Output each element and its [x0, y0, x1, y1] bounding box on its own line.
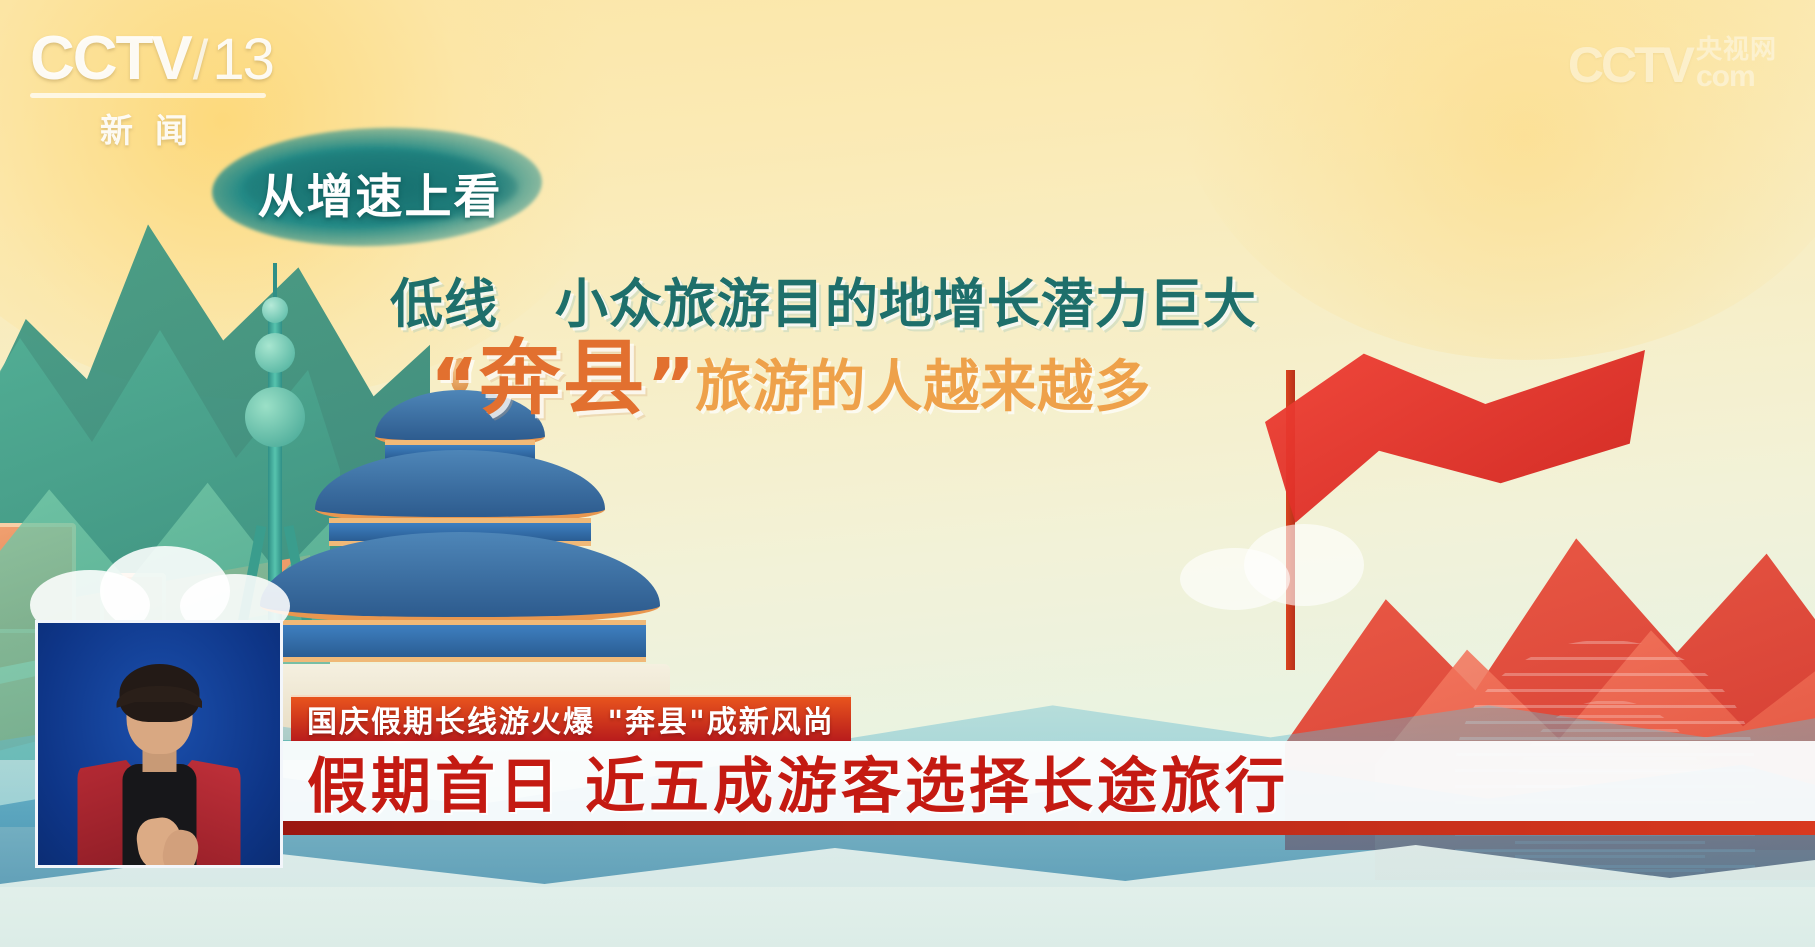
cctv-logo-subtitle: 新闻: [30, 104, 280, 152]
cctv-com-watermark: CCTV 央视网 com: [1568, 30, 1777, 100]
emphasis-tail-text: 旅游的人越来越多: [695, 360, 1151, 420]
section-label: 从增速上看: [240, 158, 520, 227]
topic-banner-text: 国庆假期长线游火爆 "奔县"成新风尚: [307, 697, 835, 741]
watermark-domain-suffix: com: [1696, 63, 1777, 92]
main-headline-banner: 假期首日近五成游客选择长途旅行: [283, 741, 1815, 821]
cctv-logo-slash: /: [193, 32, 207, 88]
overlay-headline-part-b: 小众旅游目的地增长潜力巨大: [555, 274, 1257, 335]
temple-of-heaven-illustration: [250, 380, 670, 740]
topic-banner: 国庆假期长线游火爆 "奔县"成新风尚: [291, 695, 851, 741]
cctv-logo-channel-number: 13: [212, 31, 273, 89]
main-headline-part-a: 假期首日: [307, 752, 563, 822]
main-headline-text: 假期首日近五成游客选择长途旅行: [307, 738, 1289, 825]
main-headline-part-b: 近五成游客选择长途旅行: [585, 752, 1289, 822]
great-wall-illustration: [0, 255, 310, 585]
cctv-logo-underline: [30, 93, 266, 98]
banner-bottom-strip: [283, 821, 1815, 835]
sign-language-presenter: [72, 660, 247, 865]
watermark-brand: CCTV: [1568, 36, 1692, 94]
overlay-headline-emphasis: “ 奔县 ” 旅游的人越来越多: [430, 338, 1151, 420]
flag-pole: [1286, 370, 1295, 670]
quote-close: ”: [647, 353, 696, 420]
broadcast-frame: CCTV / 13 新闻 CCTV 央视网 com 从增速上看 低线 小众旅游目…: [0, 0, 1815, 947]
emphasis-keyword: 奔县: [479, 338, 647, 420]
overlay-headline-primary: 低线 小众旅游目的地增长潜力巨大: [390, 262, 1257, 338]
green-mountain-back: [0, 190, 430, 620]
overlay-headline-part-a: 低线: [390, 274, 498, 335]
red-flag-illustration: [1265, 350, 1645, 530]
quote-open: “: [430, 353, 479, 420]
sign-language-inset: [35, 620, 283, 868]
cctv13-channel-logo: CCTV / 13 新闻: [30, 28, 280, 143]
cctv-logo-wordmark: CCTV: [30, 28, 191, 90]
